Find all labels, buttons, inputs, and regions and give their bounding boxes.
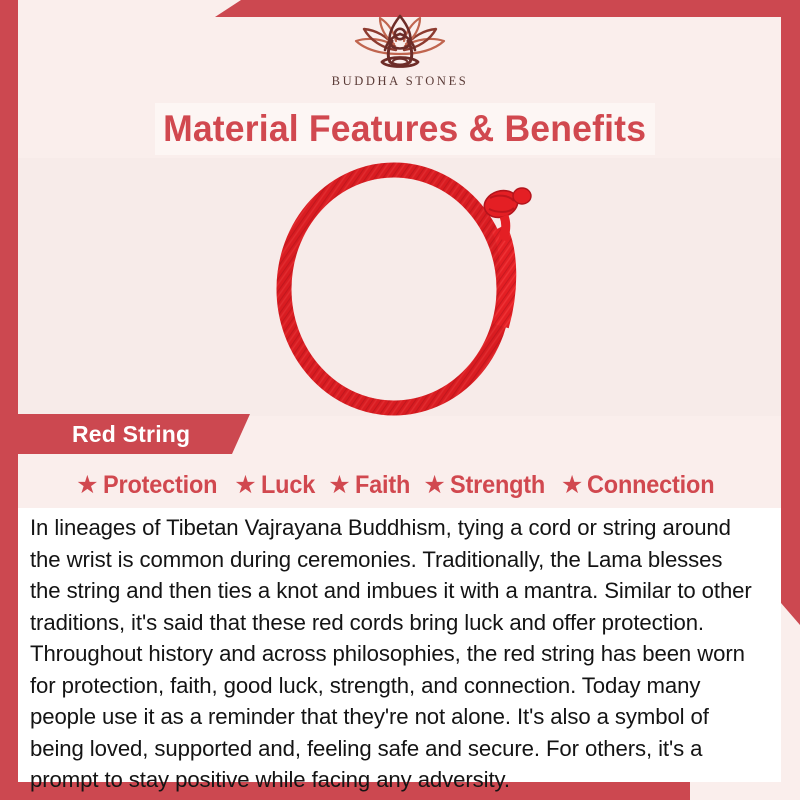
star-icon: ★ xyxy=(234,473,256,498)
description-panel: In lineages of Tibetan Vajrayana Buddhis… xyxy=(18,508,781,782)
description-text: In lineages of Tibetan Vajrayana Buddhis… xyxy=(30,512,752,796)
benefit-label: Luck xyxy=(261,471,315,500)
product-label-banner: Red String xyxy=(18,414,250,454)
benefit-label: Strength xyxy=(450,471,545,500)
benefit-item: ★ Luck xyxy=(234,471,318,500)
infographic-page: BUDDHA STONES Material Features & Benefi… xyxy=(0,0,800,800)
benefit-item: ★ Connection xyxy=(561,471,723,500)
star-icon: ★ xyxy=(328,473,350,498)
bracelet-adjuster xyxy=(499,228,508,326)
decor-left-strip xyxy=(0,0,18,800)
page-title: Material Features & Benefits xyxy=(163,108,646,150)
bracelet-loop-shade xyxy=(284,170,504,408)
benefit-label: Protection xyxy=(103,471,217,500)
benefit-item: ★ Strength xyxy=(423,471,551,500)
star-icon: ★ xyxy=(76,473,98,498)
benefits-row: ★ Protection ★ Luck ★ Faith ★ Strength ★… xyxy=(18,465,781,505)
red-string-bracelet-image xyxy=(261,156,551,418)
title-banner: Material Features & Benefits xyxy=(155,103,655,155)
benefit-label: Faith xyxy=(355,471,410,500)
decor-right-strip xyxy=(781,0,800,625)
star-icon: ★ xyxy=(423,473,445,498)
brand-wordmark: BUDDHA STONES xyxy=(0,74,800,89)
star-icon: ★ xyxy=(561,473,583,498)
lotus-meditation-icon xyxy=(330,10,470,72)
brand-logo: BUDDHA STONES xyxy=(0,10,800,89)
benefit-item: ★ Protection xyxy=(76,471,224,500)
bracelet-tail xyxy=(503,216,506,240)
benefit-item: ★ Faith xyxy=(328,471,413,500)
benefit-label: Connection xyxy=(587,471,714,500)
product-label-text: Red String xyxy=(72,421,190,448)
product-photo-area xyxy=(18,158,781,416)
